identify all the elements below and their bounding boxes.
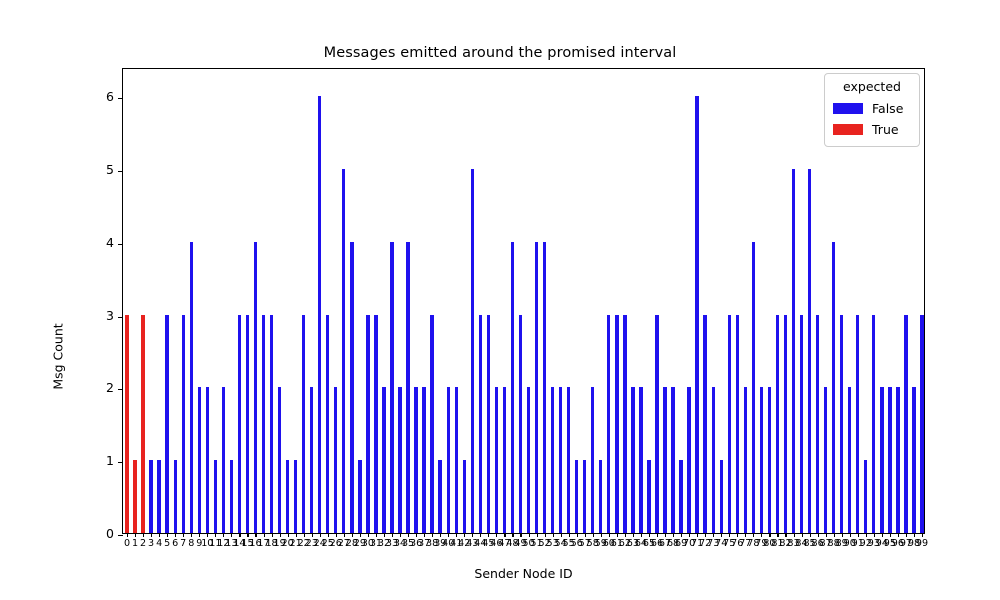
bar[interactable] bbox=[856, 315, 859, 533]
x-tick bbox=[520, 533, 521, 537]
x-tick bbox=[761, 533, 762, 537]
bar[interactable] bbox=[920, 315, 923, 533]
x-tick bbox=[151, 533, 152, 537]
bar[interactable] bbox=[720, 460, 723, 533]
bar[interactable] bbox=[157, 460, 160, 533]
bar[interactable] bbox=[760, 387, 763, 533]
bar[interactable] bbox=[165, 315, 168, 533]
x-tick bbox=[296, 533, 297, 537]
bar[interactable] bbox=[230, 460, 233, 533]
bar[interactable] bbox=[310, 387, 313, 533]
x-tick bbox=[312, 533, 313, 537]
x-tick bbox=[890, 533, 891, 537]
bar[interactable] bbox=[455, 387, 458, 533]
x-tick bbox=[874, 533, 875, 537]
bar[interactable] bbox=[511, 242, 514, 533]
bar[interactable] bbox=[390, 242, 393, 533]
x-tick bbox=[834, 533, 835, 537]
x-tick bbox=[593, 533, 594, 537]
legend: expected FalseTrue bbox=[824, 73, 920, 147]
x-tick bbox=[191, 533, 192, 537]
x-tick bbox=[199, 533, 200, 537]
x-tick-label: 4 bbox=[156, 538, 162, 549]
x-tick bbox=[858, 533, 859, 537]
x-tick bbox=[802, 533, 803, 537]
x-tick bbox=[127, 533, 128, 537]
bar[interactable] bbox=[623, 315, 626, 533]
x-tick bbox=[649, 533, 650, 537]
x-tick bbox=[336, 533, 337, 537]
x-tick bbox=[729, 533, 730, 537]
bar[interactable] bbox=[326, 315, 329, 533]
x-tick bbox=[304, 533, 305, 537]
x-tick bbox=[424, 533, 425, 537]
x-tick bbox=[215, 533, 216, 537]
x-tick bbox=[488, 533, 489, 537]
x-tick bbox=[794, 533, 795, 537]
y-tick-label: 5 bbox=[106, 162, 114, 177]
x-tick bbox=[167, 533, 168, 537]
bar[interactable] bbox=[302, 315, 305, 533]
x-tick bbox=[183, 533, 184, 537]
legend-title: expected bbox=[833, 79, 911, 94]
bar[interactable] bbox=[687, 387, 690, 533]
x-tick bbox=[553, 533, 554, 537]
x-tick bbox=[376, 533, 377, 537]
x-tick-label: 0 bbox=[124, 538, 130, 549]
legend-swatch bbox=[833, 124, 863, 135]
bar[interactable] bbox=[406, 242, 409, 533]
x-tick bbox=[826, 533, 827, 537]
legend-item[interactable]: True bbox=[833, 119, 911, 140]
bar[interactable] bbox=[848, 387, 851, 533]
x-tick bbox=[255, 533, 256, 537]
x-tick bbox=[368, 533, 369, 537]
bar[interactable] bbox=[286, 460, 289, 533]
bar[interactable] bbox=[182, 315, 185, 533]
x-tick-label: 2 bbox=[140, 538, 146, 549]
x-tick bbox=[689, 533, 690, 537]
x-tick bbox=[408, 533, 409, 537]
x-tick bbox=[448, 533, 449, 537]
bar[interactable] bbox=[655, 315, 658, 533]
bar[interactable] bbox=[679, 460, 682, 533]
x-tick bbox=[866, 533, 867, 537]
legend-rows: FalseTrue bbox=[833, 98, 911, 140]
x-tick bbox=[898, 533, 899, 537]
bar[interactable] bbox=[270, 315, 273, 533]
x-tick bbox=[609, 533, 610, 537]
x-tick-label: 1 bbox=[132, 538, 138, 549]
x-tick-label: 3 bbox=[148, 538, 154, 549]
bar[interactable] bbox=[752, 242, 755, 533]
bar[interactable] bbox=[133, 460, 136, 533]
bar[interactable] bbox=[880, 387, 883, 533]
x-tick bbox=[842, 533, 843, 537]
x-tick bbox=[737, 533, 738, 537]
x-tick bbox=[247, 533, 248, 537]
bar[interactable] bbox=[567, 387, 570, 533]
x-tick bbox=[320, 533, 321, 537]
bar[interactable] bbox=[703, 315, 706, 533]
bar[interactable] bbox=[896, 387, 899, 533]
x-tick bbox=[504, 533, 505, 537]
legend-item[interactable]: False bbox=[833, 98, 911, 119]
bar[interactable] bbox=[374, 315, 377, 533]
x-tick bbox=[617, 533, 618, 537]
x-tick bbox=[143, 533, 144, 537]
x-tick bbox=[810, 533, 811, 537]
bar[interactable] bbox=[888, 387, 891, 533]
x-tick bbox=[882, 533, 883, 537]
bar[interactable] bbox=[398, 387, 401, 533]
x-tick bbox=[231, 533, 232, 537]
x-tick bbox=[577, 533, 578, 537]
bar[interactable] bbox=[495, 387, 498, 533]
bar[interactable] bbox=[551, 387, 554, 533]
bar[interactable] bbox=[615, 315, 618, 533]
bar[interactable] bbox=[671, 387, 674, 533]
bar[interactable] bbox=[728, 315, 731, 533]
x-tick bbox=[456, 533, 457, 537]
x-tick bbox=[705, 533, 706, 537]
bar[interactable] bbox=[607, 315, 610, 533]
bar[interactable] bbox=[663, 387, 666, 533]
bar[interactable] bbox=[262, 315, 265, 533]
bar[interactable] bbox=[599, 460, 602, 533]
bar[interactable] bbox=[149, 460, 152, 533]
y-tick: 0 bbox=[118, 535, 123, 536]
bar[interactable] bbox=[198, 387, 201, 533]
x-tick bbox=[769, 533, 770, 537]
x-tick bbox=[625, 533, 626, 537]
bar[interactable] bbox=[575, 460, 578, 533]
x-tick bbox=[207, 533, 208, 537]
bar[interactable] bbox=[776, 315, 779, 533]
bar[interactable] bbox=[712, 387, 715, 533]
bar[interactable] bbox=[238, 315, 241, 533]
bar[interactable] bbox=[792, 169, 795, 533]
bar[interactable] bbox=[350, 242, 353, 533]
x-tick bbox=[657, 533, 658, 537]
bar[interactable] bbox=[422, 387, 425, 533]
bar[interactable] bbox=[744, 387, 747, 533]
x-tick bbox=[440, 533, 441, 537]
bar[interactable] bbox=[912, 387, 915, 533]
y-tick-label: 6 bbox=[106, 89, 114, 104]
bars-layer bbox=[123, 69, 924, 533]
x-tick bbox=[175, 533, 176, 537]
bar[interactable] bbox=[816, 315, 819, 533]
x-tick bbox=[392, 533, 393, 537]
bar[interactable] bbox=[125, 315, 128, 533]
bar[interactable] bbox=[832, 242, 835, 533]
x-tick bbox=[352, 533, 353, 537]
x-tick-label: 99 bbox=[916, 538, 928, 549]
bar[interactable] bbox=[808, 169, 811, 533]
bar[interactable] bbox=[358, 460, 361, 533]
bar[interactable] bbox=[479, 315, 482, 533]
bar[interactable] bbox=[294, 460, 297, 533]
x-tick bbox=[135, 533, 136, 537]
bar[interactable] bbox=[904, 315, 907, 533]
bar[interactable] bbox=[318, 96, 321, 533]
x-tick bbox=[159, 533, 160, 537]
x-tick bbox=[416, 533, 417, 537]
x-tick bbox=[673, 533, 674, 537]
x-tick bbox=[777, 533, 778, 537]
x-tick bbox=[280, 533, 281, 537]
x-tick bbox=[922, 533, 923, 537]
bar[interactable] bbox=[559, 387, 562, 533]
bar[interactable] bbox=[543, 242, 546, 533]
x-tick bbox=[633, 533, 634, 537]
bar[interactable] bbox=[430, 315, 433, 533]
x-tick-label: 6 bbox=[172, 538, 178, 549]
x-tick bbox=[264, 533, 265, 537]
bar[interactable] bbox=[768, 387, 771, 533]
bar[interactable] bbox=[840, 315, 843, 533]
bar[interactable] bbox=[639, 387, 642, 533]
bar[interactable] bbox=[214, 460, 217, 533]
x-tick bbox=[512, 533, 513, 537]
bar[interactable] bbox=[527, 387, 530, 533]
bar[interactable] bbox=[824, 387, 827, 533]
x-tick bbox=[713, 533, 714, 537]
x-tick bbox=[545, 533, 546, 537]
x-tick bbox=[480, 533, 481, 537]
x-tick bbox=[288, 533, 289, 537]
bar[interactable] bbox=[190, 242, 193, 533]
y-tick-label: 3 bbox=[106, 308, 114, 323]
x-tick bbox=[400, 533, 401, 537]
bar[interactable] bbox=[471, 169, 474, 533]
x-tick bbox=[681, 533, 682, 537]
x-tick bbox=[272, 533, 273, 537]
y-tick-label: 2 bbox=[106, 380, 114, 395]
x-tick bbox=[529, 533, 530, 537]
bar[interactable] bbox=[784, 315, 787, 533]
bar[interactable] bbox=[206, 387, 209, 533]
bar[interactable] bbox=[535, 242, 538, 533]
x-tick bbox=[344, 533, 345, 537]
x-tick bbox=[239, 533, 240, 537]
bar[interactable] bbox=[864, 460, 867, 533]
bar[interactable] bbox=[463, 460, 466, 533]
x-tick bbox=[745, 533, 746, 537]
x-tick bbox=[721, 533, 722, 537]
plot-area: Msg Count 0123456 0123456789101112131415… bbox=[122, 68, 925, 534]
y-tick-label: 4 bbox=[106, 235, 114, 250]
bar[interactable] bbox=[438, 460, 441, 533]
x-tick bbox=[753, 533, 754, 537]
x-axis-label: Sender Node ID bbox=[122, 566, 925, 581]
x-tick bbox=[906, 533, 907, 537]
bar[interactable] bbox=[222, 387, 225, 533]
x-tick bbox=[328, 533, 329, 537]
bar[interactable] bbox=[487, 315, 490, 533]
bar[interactable] bbox=[414, 387, 417, 533]
chart-title: Messages emitted around the promised int… bbox=[0, 45, 1000, 61]
x-tick bbox=[818, 533, 819, 537]
x-tick bbox=[223, 533, 224, 537]
y-tick-label: 0 bbox=[106, 526, 114, 541]
bar[interactable] bbox=[583, 460, 586, 533]
bar[interactable] bbox=[591, 387, 594, 533]
x-tick bbox=[464, 533, 465, 537]
bar[interactable] bbox=[278, 387, 281, 533]
x-tick bbox=[585, 533, 586, 537]
bar[interactable] bbox=[872, 315, 875, 533]
bar[interactable] bbox=[334, 387, 337, 533]
bar[interactable] bbox=[800, 315, 803, 533]
x-tick bbox=[537, 533, 538, 537]
bar[interactable] bbox=[246, 315, 249, 533]
x-tick bbox=[432, 533, 433, 537]
bar[interactable] bbox=[647, 460, 650, 533]
y-axis-label: Msg Count bbox=[51, 124, 66, 590]
bar[interactable] bbox=[631, 387, 634, 533]
bar[interactable] bbox=[254, 242, 257, 533]
legend-swatch bbox=[833, 103, 863, 114]
x-tick-label: 8 bbox=[188, 538, 194, 549]
bar[interactable] bbox=[382, 387, 385, 533]
x-tick bbox=[850, 533, 851, 537]
bar[interactable] bbox=[503, 387, 506, 533]
x-tick bbox=[569, 533, 570, 537]
bar[interactable] bbox=[342, 169, 345, 533]
x-tick-label: 7 bbox=[180, 538, 186, 549]
x-tick bbox=[665, 533, 666, 537]
bar[interactable] bbox=[695, 96, 698, 533]
legend-label: False bbox=[872, 101, 903, 116]
x-tick bbox=[561, 533, 562, 537]
bar[interactable] bbox=[141, 315, 144, 533]
x-tick bbox=[914, 533, 915, 537]
bar[interactable] bbox=[366, 315, 369, 533]
bar[interactable] bbox=[174, 460, 177, 533]
legend-label: True bbox=[872, 122, 899, 137]
x-tick bbox=[785, 533, 786, 537]
x-tick bbox=[384, 533, 385, 537]
x-tick bbox=[496, 533, 497, 537]
bar[interactable] bbox=[447, 387, 450, 533]
x-tick bbox=[472, 533, 473, 537]
x-tick bbox=[641, 533, 642, 537]
y-tick-label: 1 bbox=[106, 453, 114, 468]
x-tick bbox=[601, 533, 602, 537]
bar[interactable] bbox=[736, 315, 739, 533]
bar[interactable] bbox=[519, 315, 522, 533]
x-tick-label: 5 bbox=[164, 538, 170, 549]
x-tick bbox=[360, 533, 361, 537]
x-tick bbox=[697, 533, 698, 537]
chart-figure: Messages emitted around the promised int… bbox=[0, 0, 1000, 600]
